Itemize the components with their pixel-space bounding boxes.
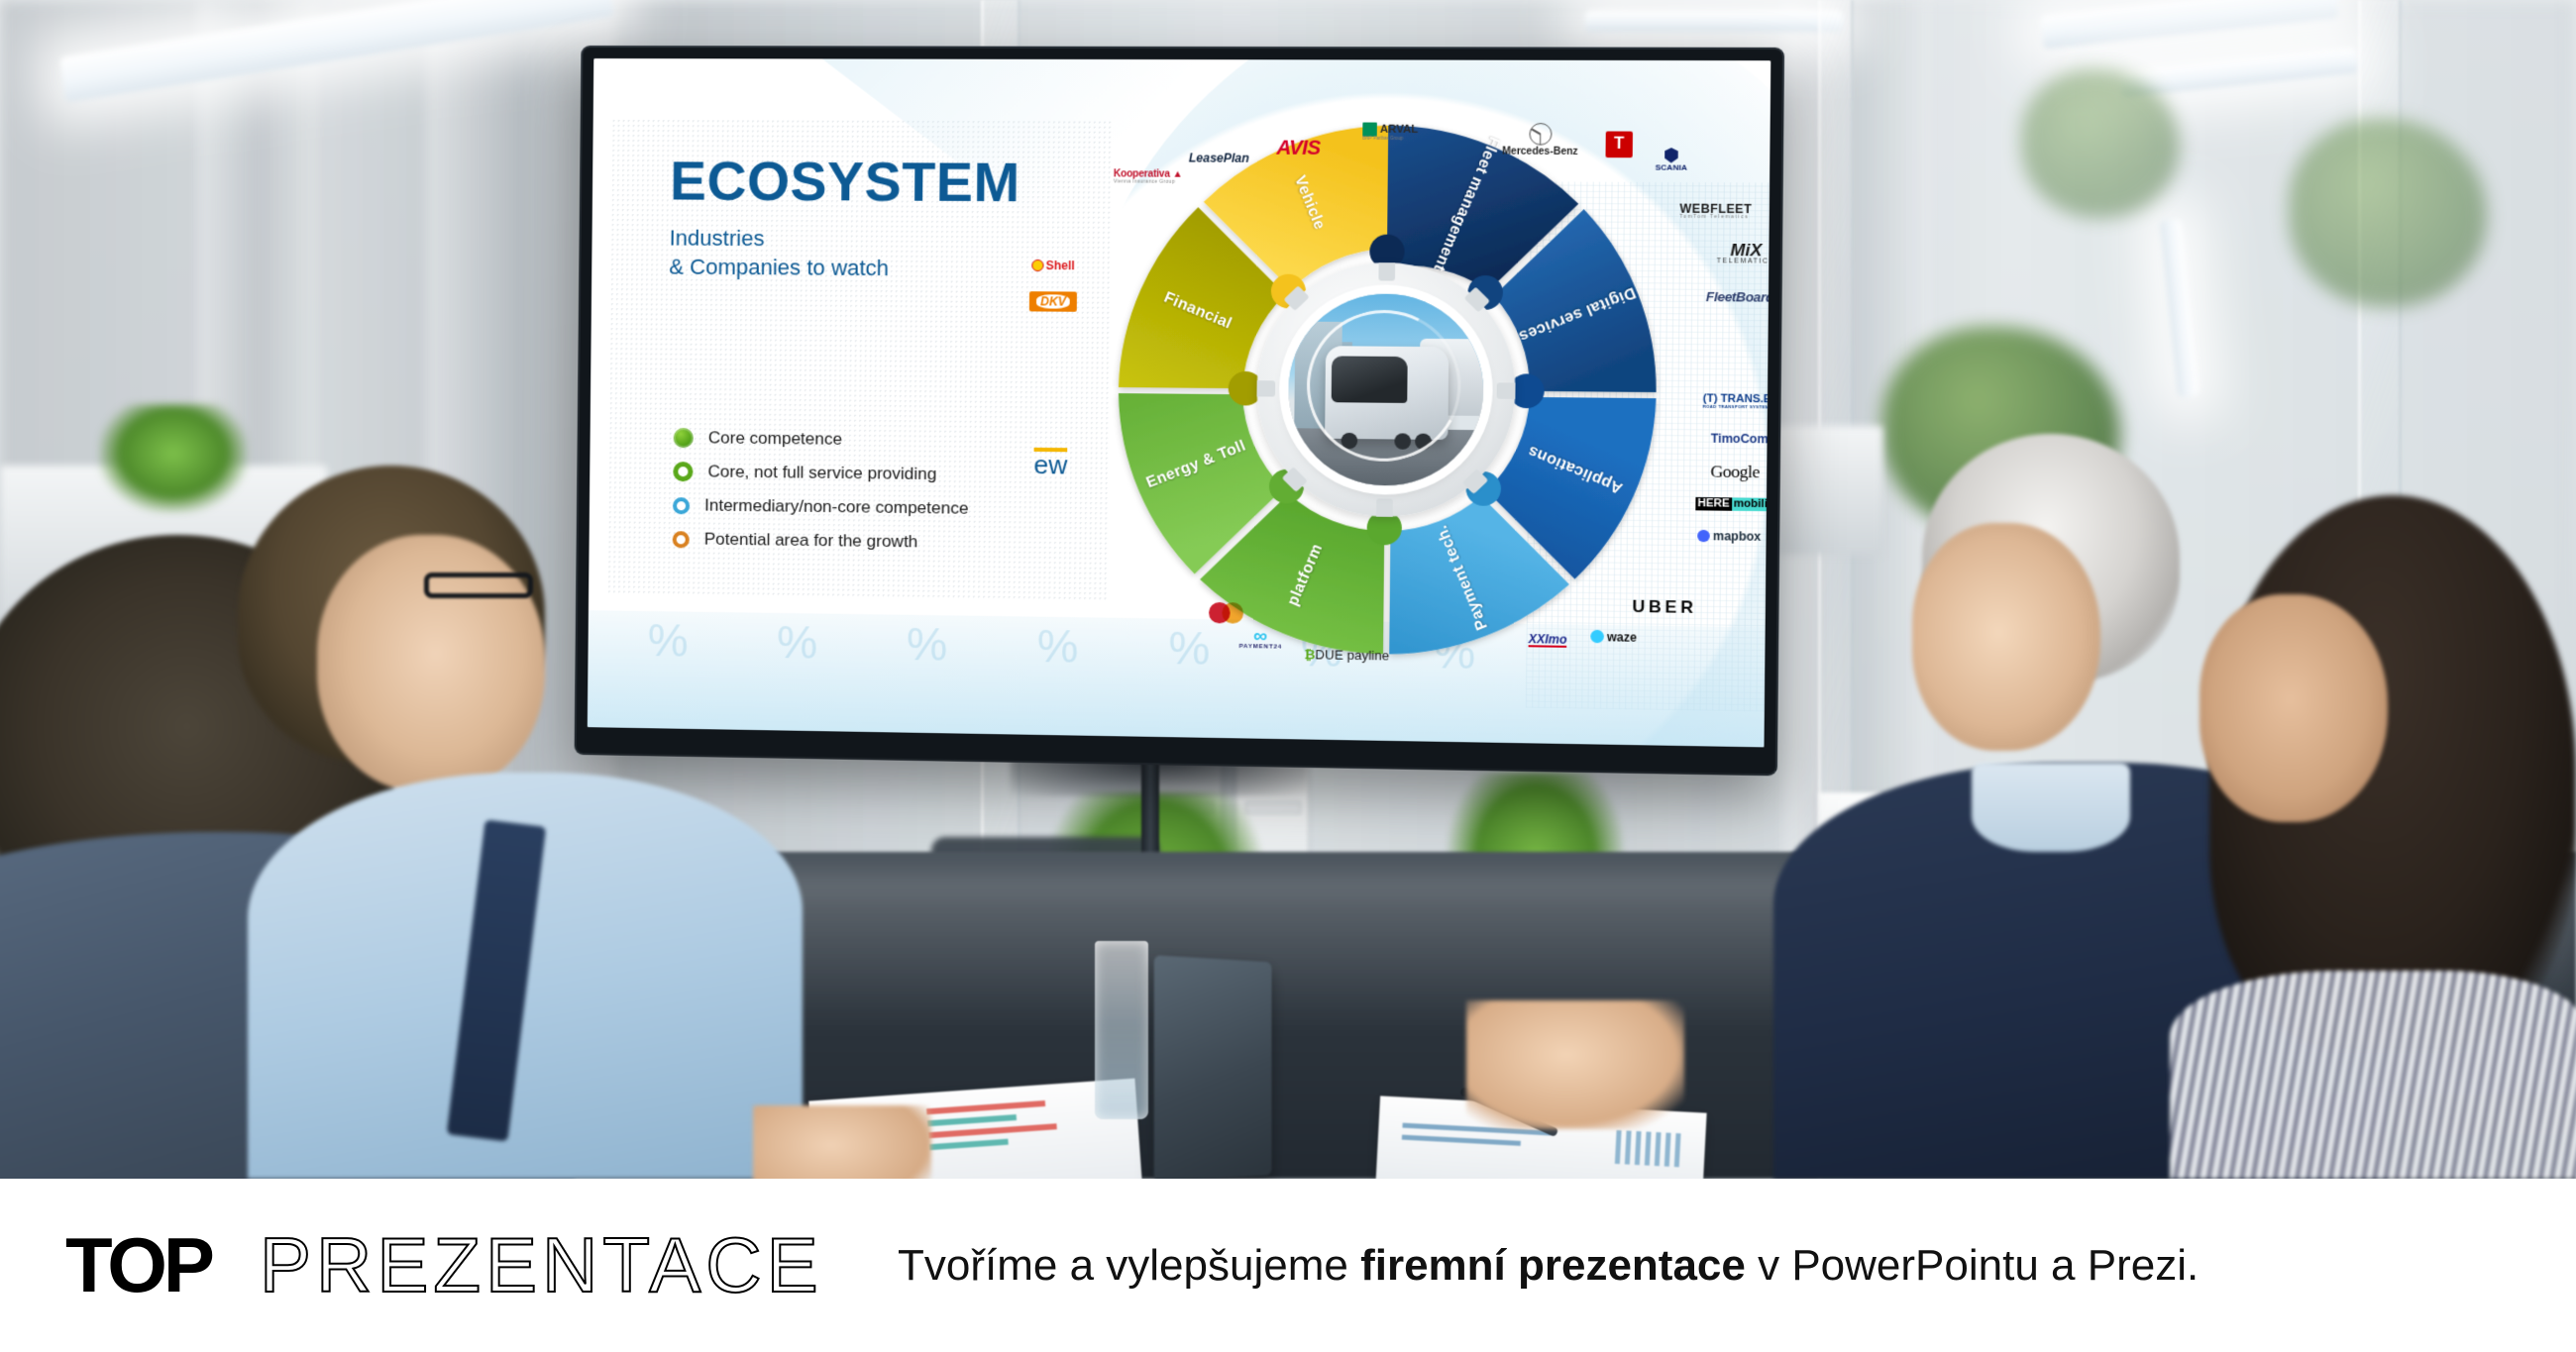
slide-subtitle: Industries & Companies to watch bbox=[669, 223, 1020, 283]
logo-text: UBER bbox=[1632, 598, 1696, 616]
logo-tesla: T bbox=[1606, 132, 1633, 158]
tagline-pre: Tvoříme a vylepšujeme bbox=[898, 1241, 1360, 1290]
logo-subtext: ROAD TRANSPORT SYSTEM bbox=[1703, 405, 1771, 410]
person-woman-face bbox=[2200, 594, 2388, 822]
logo-text: XXImo bbox=[1529, 633, 1567, 646]
logo-due-payline: ₿DUE payline bbox=[1304, 648, 1389, 663]
office-scene-photo: % % % % % % % ECOSYSTEM Industries & Com… bbox=[0, 0, 2576, 1179]
logo-text: Shell bbox=[1046, 260, 1075, 271]
logo-text: ew bbox=[1033, 454, 1067, 477]
tv-screen-bezel: % % % % % % % ECOSYSTEM Industries & Com… bbox=[577, 48, 1782, 774]
logo-text: mapbox bbox=[1713, 530, 1762, 543]
logo-text: DKV bbox=[1036, 294, 1070, 308]
logo-uber: UBER bbox=[1632, 598, 1696, 616]
logo-scania: SCANIA bbox=[1656, 148, 1687, 172]
brand-logo-top: TOP bbox=[65, 1226, 211, 1303]
mapbox-pin-icon bbox=[1697, 530, 1710, 542]
logo-text: LeasePlan bbox=[1189, 152, 1249, 163]
logo-text: SCANIA bbox=[1656, 162, 1687, 171]
logo-text: Mercedes-Benz bbox=[1502, 146, 1578, 157]
logo-text: waze bbox=[1607, 631, 1637, 644]
logo-mapbox: mapbox bbox=[1697, 530, 1761, 543]
ecosystem-wheel: Financial Vehicle Fleet management Digit… bbox=[1105, 114, 1670, 670]
potted-plant-far-left bbox=[99, 404, 248, 513]
legend: Core competence Core, not full service p… bbox=[672, 428, 969, 567]
background-foliage-2 bbox=[2289, 119, 2487, 307]
logo-text: PAYMENT24 bbox=[1239, 644, 1283, 651]
waze-face-icon bbox=[1590, 630, 1604, 643]
mercedes-star-icon bbox=[1529, 123, 1552, 146]
shirt-collar bbox=[1972, 763, 2130, 852]
wall-display-unit: % % % % % % % ECOSYSTEM Industries & Com… bbox=[580, 48, 1749, 761]
mastercard-circle-yellow bbox=[1222, 602, 1243, 624]
slide-canvas: % % % % % % % ECOSYSTEM Industries & Com… bbox=[588, 58, 1771, 747]
laptop-screen bbox=[1154, 955, 1272, 1179]
logo-webfleet: WEBFLEET TomTom Telematics bbox=[1679, 203, 1752, 220]
legend-label: Core competence bbox=[708, 428, 842, 450]
payment24-infinity-icon: ∞ bbox=[1239, 629, 1283, 645]
ceiling-light-5 bbox=[1585, 10, 1843, 32]
tagline-bold: firemní prezentace bbox=[1360, 1241, 1746, 1290]
legend-label: Potential area for the growth bbox=[704, 530, 918, 553]
logo-google: Google bbox=[1710, 463, 1760, 480]
logo-text: FleetBoard bbox=[1706, 290, 1771, 304]
logo-text: DUE payline bbox=[1315, 648, 1389, 662]
logo-dkv: DKV bbox=[1029, 291, 1077, 312]
legend-item: Intermediary/non-core competence bbox=[673, 495, 969, 519]
logo-mastercard bbox=[1209, 602, 1243, 624]
logo-waze: waze bbox=[1590, 630, 1637, 644]
person-right-hand bbox=[1466, 1000, 1684, 1129]
background-foliage-3 bbox=[2021, 69, 2180, 218]
logo-subtext: BNP Paribas Group bbox=[1362, 137, 1418, 142]
shell-pecten-icon bbox=[1031, 260, 1043, 271]
page-title: ECOSYSTEM bbox=[670, 154, 1020, 210]
brand-logo-rest: PREZENTACE bbox=[260, 1226, 823, 1303]
logo-text: TimoCom bbox=[1711, 433, 1769, 446]
logo-subtext: Vienna Insurance Group bbox=[1114, 179, 1183, 184]
legend-item: Core, not full service providing bbox=[673, 462, 969, 484]
arval-square-icon bbox=[1362, 123, 1377, 137]
logo-mix-telematics: MiX TELEMATICS bbox=[1717, 242, 1771, 265]
brand-tagline: Tvoříme a vylepšujeme firemní prezentace… bbox=[898, 1241, 2199, 1291]
legend-marker-growth bbox=[673, 531, 690, 548]
person-striped-blouse bbox=[2170, 971, 2576, 1179]
legend-label: Core, not full service providing bbox=[707, 462, 936, 484]
brand-footer: TOP PREZENTACE Tvoříme a vylepšujeme fir… bbox=[0, 1179, 2576, 1352]
water-glass bbox=[1095, 941, 1148, 1119]
eyeglasses bbox=[424, 572, 533, 598]
logo-xximo: XXImo bbox=[1529, 633, 1567, 648]
legend-marker-core-partial bbox=[673, 462, 693, 481]
logo-avis: AVIS bbox=[1276, 139, 1320, 158]
legend-marker-intermediary bbox=[673, 497, 690, 514]
legend-label: Intermediary/non-core competence bbox=[704, 495, 969, 518]
logo-leaseplan: LeasePlan bbox=[1189, 152, 1249, 163]
logo-subtext: TELEMATICS bbox=[1717, 259, 1771, 265]
legend-item: Core competence bbox=[674, 428, 970, 451]
person-left-hand bbox=[753, 1105, 931, 1179]
logo-eurowag: ew bbox=[1033, 448, 1067, 477]
screenshot-root: % % % % % % % ECOSYSTEM Industries & Com… bbox=[0, 0, 2576, 1352]
logo-heremobility: HEREmobility bbox=[1695, 497, 1771, 511]
logo-subtext: TomTom Telematics bbox=[1679, 215, 1752, 220]
person-gray-face bbox=[1912, 523, 2100, 751]
logo-text: ARVAL bbox=[1380, 124, 1418, 136]
logo-timocom: TimoCom bbox=[1711, 433, 1769, 446]
due-bitcoin-icon: ₿ bbox=[1304, 648, 1315, 661]
logo-kooperativa: Kooperativa ▲ Vienna Insurance Group bbox=[1114, 169, 1183, 185]
logo-text: AVIS bbox=[1276, 139, 1320, 158]
brand-logo: TOP PREZENTACE bbox=[65, 1218, 858, 1313]
logo-arval: ARVAL BNP Paribas Group bbox=[1362, 123, 1418, 142]
logo-trans-eu: (T) TRANS.EU ROAD TRANSPORT SYSTEM bbox=[1703, 393, 1771, 409]
logo-fleetboard: FleetBoard bbox=[1706, 290, 1771, 304]
legend-marker-core-competence bbox=[674, 428, 694, 448]
presentation-screen: % % % % % % % ECOSYSTEM Industries & Com… bbox=[588, 58, 1771, 747]
logo-text-2: mobility bbox=[1732, 497, 1771, 511]
legend-item: Potential area for the growth bbox=[673, 529, 969, 553]
slide-header: ECOSYSTEM Industries & Companies to watc… bbox=[669, 154, 1020, 283]
tagline-post: v PowerPointu a Prezi. bbox=[1746, 1241, 2199, 1290]
logo-text: Google bbox=[1710, 463, 1760, 480]
logo-text: HERE bbox=[1695, 497, 1731, 511]
logo-payment24: ∞ PAYMENT24 bbox=[1239, 629, 1283, 651]
scania-shield-icon bbox=[1664, 148, 1678, 162]
logo-mercedes-benz: Mercedes-Benz bbox=[1502, 123, 1578, 157]
wheel-center-truck-image bbox=[1288, 293, 1485, 486]
logo-shell: Shell bbox=[1031, 260, 1075, 271]
